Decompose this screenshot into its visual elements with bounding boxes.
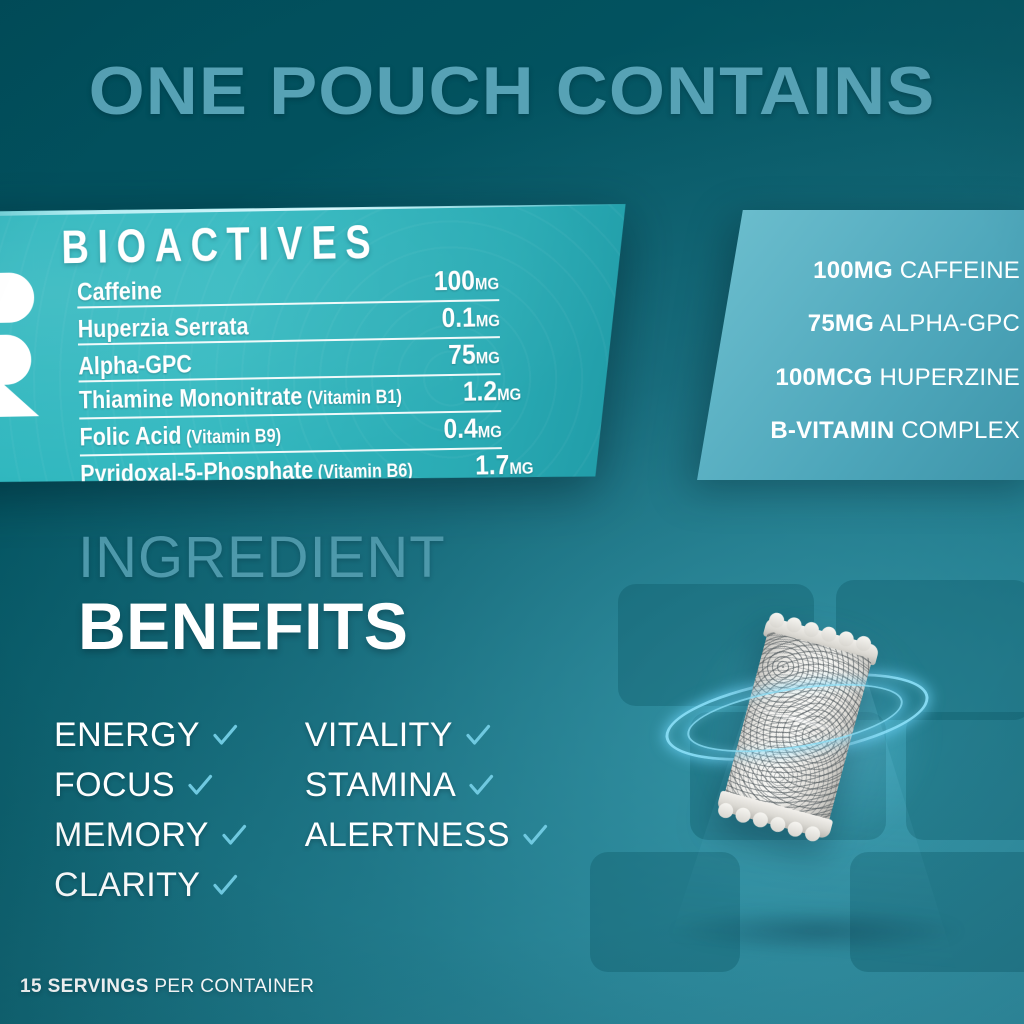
benefit-item: ALERTNESS [305, 816, 548, 854]
servings-footer: 15 SERVINGS PER CONTAINER [20, 976, 314, 998]
key-actives-list: 100MG CAFFEINE75MG ALPHA-GPC100MCG HUPER… [690, 244, 1020, 458]
bioactives-row-unit: MG [477, 422, 501, 441]
bioactives-row-value: 1.7MG [475, 451, 534, 484]
bioactives-row-value: 100MG [433, 266, 499, 299]
ingredient-benefits-line2: BENEFITS [78, 590, 446, 662]
bioactives-row-unit: MG [509, 459, 533, 478]
benefit-item: VITALITY [305, 716, 548, 754]
key-active-item: B-VITAMIN COMPLEX [690, 418, 1020, 444]
key-active-label: COMPLEX [894, 417, 1020, 444]
benefit-item: MEMORY [54, 816, 247, 854]
bioactives-row-amount: 0.4 [443, 413, 478, 445]
key-active-item: 100MG CAFFEINE [690, 258, 1020, 284]
bioactives-row-qualifier: (Vitamin B6) [313, 461, 413, 484]
bioactives-row-amount: 1.7 [475, 449, 510, 481]
benefit-item: STAMINA [305, 766, 548, 804]
benefit-label: CLARITY [54, 866, 200, 904]
bioactives-row-unit: MG [475, 311, 499, 330]
bioactives-row-name: Folic Acid (Vitamin B9) [79, 421, 281, 454]
bioactives-row-name: Pyridoxal-5-Phosphate (Vitamin B6) [80, 456, 413, 488]
bioactives-row-unit: MG [496, 385, 520, 404]
bioactives-row-name: Huperzia Serrata [77, 314, 248, 343]
bioactives-row-amount: 0.1 [441, 302, 476, 334]
benefit-label: VITALITY [305, 716, 453, 754]
check-icon [522, 822, 548, 848]
product-visual [600, 500, 1024, 970]
check-icon [187, 772, 213, 798]
key-active-label: ALPHA-GPC [874, 310, 1020, 337]
servings-count: 15 SERVINGS [20, 976, 149, 997]
bioactives-panel: BIOACTIVES Caffeine100MGHuperzia Serrata… [0, 200, 630, 488]
key-actives-panel: 100MG CAFFEINE75MG ALPHA-GPC100MCG HUPER… [690, 210, 1024, 480]
bioactives-row-qualifier: (Vitamin B9) [181, 426, 281, 449]
benefit-item: ENERGY [54, 716, 247, 754]
bioactives-panel-surface: BIOACTIVES Caffeine100MGHuperzia Serrata… [0, 200, 630, 488]
page-title: ONE POUCH CONTAINS [0, 52, 1024, 130]
infographic-canvas: ONE POUCH CONTAINS BIOACTIVES Caffeine10… [0, 0, 1024, 1024]
bioactives-row-value: 0.4MG [443, 414, 502, 447]
bioactives-row-amount: 1.2 [462, 375, 497, 407]
benefits-checklist: ENERGYFOCUSMEMORYCLARITYVITALITYSTAMINAA… [54, 716, 548, 904]
benefit-item: CLARITY [54, 866, 247, 904]
servings-label: PER CONTAINER [154, 976, 314, 997]
bioactives-row: Pyridoxal-5-Phosphate (Vitamin B6)1.7MG [80, 449, 503, 488]
benefit-label: ENERGY [54, 716, 200, 754]
bioactives-row-value: 0.1MG [441, 303, 500, 336]
check-icon [221, 822, 247, 848]
benefit-label: MEMORY [54, 816, 209, 854]
benefit-label: ALERTNESS [305, 816, 510, 854]
key-active-item: 75MG ALPHA-GPC [690, 311, 1020, 337]
key-active-label: CAFFEINE [893, 257, 1020, 284]
bioactives-row-name: Caffeine [77, 278, 162, 305]
benefit-item: FOCUS [54, 766, 247, 804]
benefit-label: STAMINA [305, 766, 456, 804]
ingredient-benefits-line1: INGREDIENT [78, 528, 446, 588]
benefits-column: ENERGYFOCUSMEMORYCLARITY [54, 716, 247, 904]
check-icon [212, 872, 238, 898]
bioactives-row-unit: MG [476, 348, 500, 367]
key-active-amount: 100MCG [775, 364, 872, 391]
bioactives-row-name: Thiamine Mononitrate (Vitamin B1) [79, 382, 402, 417]
key-active-label: HUPERZINE [873, 364, 1020, 391]
bioactives-row-unit: MG [475, 274, 499, 293]
check-icon [212, 722, 238, 748]
bioactives-row-qualifier: (Vitamin B1) [302, 387, 402, 410]
bioactives-row-amount: 100 [433, 265, 475, 297]
bioactives-rows: Caffeine100MGHuperzia Serrata0.1MGAlpha-… [77, 264, 503, 488]
key-active-amount: 100MG [813, 257, 893, 284]
key-active-item: 100MCG HUPERZINE [690, 365, 1020, 391]
ingredient-benefits-heading: INGREDIENT BENEFITS [78, 528, 446, 662]
benefit-label: FOCUS [54, 766, 175, 804]
product-floor-shadow [672, 908, 962, 954]
bioactives-row-value: 1.2MG [462, 377, 521, 410]
bioactives-row-name: Alpha-GPC [78, 352, 192, 380]
bioactives-row-amount: 75 [448, 339, 476, 370]
benefits-column: VITALITYSTAMINAALERTNESS [305, 716, 548, 904]
key-active-amount: 75MG [808, 310, 874, 337]
check-icon [465, 722, 491, 748]
header: ONE POUCH CONTAINS [0, 52, 1024, 130]
brand-logo-icon [0, 268, 39, 419]
check-icon [468, 772, 494, 798]
key-active-amount: B-VITAMIN [770, 417, 894, 444]
bioactives-row-value: 75MG [448, 340, 500, 373]
